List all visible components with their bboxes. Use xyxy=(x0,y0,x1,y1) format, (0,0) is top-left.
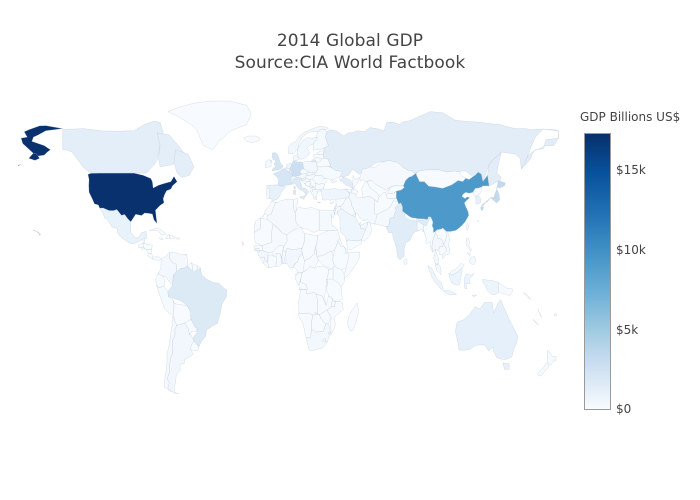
country-cub[interactable] xyxy=(149,228,166,235)
country-ncl[interactable] xyxy=(533,319,538,325)
country-lka[interactable] xyxy=(404,259,407,265)
country-ita[interactable] xyxy=(300,196,305,199)
title-line-1: 2014 Global GDP xyxy=(0,30,700,52)
country-fra[interactable] xyxy=(294,186,295,189)
country-usa[interactable] xyxy=(18,165,21,168)
country-blz[interactable] xyxy=(143,238,145,243)
country-yem[interactable] xyxy=(347,240,362,250)
country-prt[interactable] xyxy=(266,188,270,199)
choropleth-figure: 2014 Global GDP Source:CIA World Factboo… xyxy=(0,0,700,500)
country-idn[interactable] xyxy=(464,274,474,289)
country-lux[interactable] xyxy=(290,171,291,173)
country-idn[interactable] xyxy=(428,265,444,289)
country-pri[interactable] xyxy=(177,238,180,239)
country-isl[interactable] xyxy=(244,136,260,143)
country-kos[interactable] xyxy=(312,186,314,187)
country-jpn[interactable] xyxy=(481,189,499,206)
country-can[interactable] xyxy=(174,150,194,178)
country-phl[interactable] xyxy=(469,256,476,264)
country-vut[interactable] xyxy=(538,308,542,317)
country-ita[interactable] xyxy=(293,190,296,195)
country-rus[interactable] xyxy=(311,160,316,162)
country-idn[interactable] xyxy=(483,279,498,295)
colorbar-gradient xyxy=(585,134,610,409)
colorbar-tick-0: $15k xyxy=(616,163,646,177)
country-slb[interactable] xyxy=(523,293,531,300)
country-jam[interactable] xyxy=(159,238,162,240)
country-usa[interactable] xyxy=(88,173,177,223)
country-aus[interactable] xyxy=(503,363,509,369)
country-pan[interactable] xyxy=(152,257,161,260)
country-gbr[interactable] xyxy=(272,153,283,171)
country-mdg[interactable] xyxy=(347,303,358,331)
title-line-2: Source:CIA World Factbook xyxy=(0,52,700,74)
country-kor[interactable] xyxy=(475,195,480,204)
country-gmb[interactable] xyxy=(255,248,260,249)
world-map-svg[interactable] xyxy=(18,100,574,400)
country-gnq[interactable] xyxy=(295,272,298,275)
country-cyp[interactable] xyxy=(330,201,333,203)
country-usa[interactable] xyxy=(21,126,63,157)
country-swz[interactable] xyxy=(328,332,330,334)
world-map[interactable] xyxy=(18,100,574,400)
country-jpn[interactable] xyxy=(477,220,478,221)
country-fji[interactable] xyxy=(554,314,556,316)
country-dom[interactable] xyxy=(170,235,175,238)
country-nzl[interactable] xyxy=(538,363,550,376)
countries-layer xyxy=(18,101,559,394)
country-jpn[interactable] xyxy=(497,181,505,190)
colorbar-tick-1: $10k xyxy=(616,243,646,257)
country-grl[interactable] xyxy=(168,101,251,150)
country-idn[interactable] xyxy=(444,290,457,295)
colorbar[interactable] xyxy=(584,133,611,410)
country-can[interactable] xyxy=(63,121,163,173)
country-mys[interactable] xyxy=(435,263,441,274)
figure-title: 2014 Global GDP Source:CIA World Factboo… xyxy=(0,30,700,74)
country-twn[interactable] xyxy=(466,223,469,230)
country-phl[interactable] xyxy=(467,253,470,256)
country-usa[interactable] xyxy=(33,230,40,236)
country-nic[interactable] xyxy=(146,249,151,253)
country-jpn[interactable] xyxy=(481,206,484,210)
colorbar-tick-2: $5k xyxy=(616,323,638,337)
country-idn[interactable] xyxy=(472,295,477,297)
country-phl[interactable] xyxy=(466,238,472,252)
country-irl[interactable] xyxy=(265,160,271,168)
country-hti[interactable] xyxy=(166,235,170,239)
country-qat[interactable] xyxy=(359,222,360,225)
country-cri[interactable] xyxy=(148,254,153,259)
colorbar-title: GDP Billions US$ xyxy=(580,110,680,124)
country-est[interactable] xyxy=(317,151,324,155)
country-nzl[interactable] xyxy=(547,350,556,365)
colorbar-tick-3: $0 xyxy=(616,402,631,416)
country-grc[interactable] xyxy=(318,202,321,203)
country-pse[interactable] xyxy=(334,208,335,210)
country-civ[interactable] xyxy=(268,255,277,268)
country-aus[interactable] xyxy=(455,300,517,360)
country-grc[interactable] xyxy=(311,189,321,200)
country-png[interactable] xyxy=(498,283,513,297)
country-cpv[interactable] xyxy=(242,241,244,245)
